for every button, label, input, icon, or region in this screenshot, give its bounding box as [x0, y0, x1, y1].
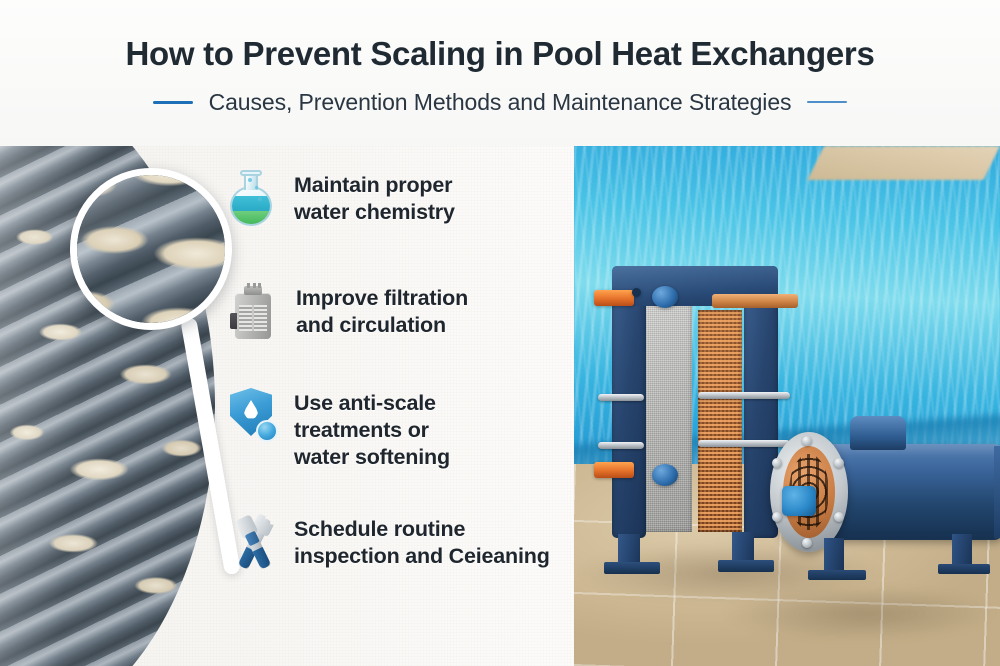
list-item[interactable]: Improve filtration and circulation	[230, 283, 468, 339]
nozzle-copper-top-right	[712, 294, 798, 308]
list-item-text: Schedule routine inspection and Ceieanin…	[294, 514, 550, 570]
tie-bolt-2	[698, 392, 790, 399]
flange-bolt-1	[802, 436, 812, 446]
flask-icon	[228, 170, 280, 226]
list-item-line: treatments or	[294, 417, 450, 444]
leg-right	[732, 532, 754, 562]
shell-foot-right	[938, 564, 990, 574]
list-item-line: inspection and Ceieaning	[294, 543, 550, 570]
list-item-line: water softening	[294, 444, 450, 471]
top-dome-port	[850, 416, 906, 450]
list-item-line: and circulation	[296, 312, 468, 339]
shell-leg-right	[952, 534, 972, 568]
subtitle-rule-left-icon	[153, 101, 193, 104]
list-item-text: Use anti-scale treatments or water softe…	[294, 388, 450, 471]
pool-equipment-photo	[574, 146, 1000, 666]
subtitle-rule-right-icon	[807, 101, 847, 103]
shell-leg-left	[824, 538, 844, 572]
magnifier-icon	[70, 168, 232, 330]
infographic-root: How to Prevent Scaling in Pool Heat Exch…	[0, 0, 1000, 666]
page-subtitle: Causes, Prevention Methods and Maintenan…	[209, 89, 792, 116]
shell-foot-left	[808, 570, 866, 580]
list-item[interactable]: Use anti-scale treatments or water softe…	[228, 388, 450, 471]
list-item-line: Use anti-scale	[294, 390, 450, 417]
list-item-text: Improve filtration and circulation	[296, 283, 468, 339]
tie-bolt-1	[598, 394, 644, 401]
shield-droplet-icon	[228, 388, 280, 446]
bolt-hole-top	[632, 288, 641, 297]
flange-bolt-3	[834, 512, 844, 522]
tie-bolt-3	[598, 442, 644, 449]
crossed-tools-icon	[228, 514, 280, 572]
list-item[interactable]: Maintain proper water chemistry	[228, 170, 455, 226]
plate-pack-copper	[698, 310, 742, 532]
leg-left	[618, 534, 640, 564]
list-item-text: Maintain proper water chemistry	[294, 170, 455, 226]
list-item-line: water chemistry	[294, 199, 455, 226]
magnifier-zoom-content	[70, 168, 232, 330]
subtitle-row: Causes, Prevention Methods and Maintenan…	[153, 89, 848, 116]
port-blue-bottom	[652, 464, 678, 486]
frame-left	[612, 266, 646, 538]
shell-and-tube-heat-exchanger	[752, 424, 1000, 614]
plate-pack-grey	[640, 304, 692, 532]
page-title: How to Prevent Scaling in Pool Heat Exch…	[125, 36, 874, 72]
far-deck-edge	[807, 146, 1000, 180]
nozzle-orange-bottom-left	[594, 462, 634, 478]
flange-bolt-5	[772, 512, 782, 522]
list-item-line: Improve filtration	[296, 285, 468, 312]
list-item-line: Schedule routine	[294, 516, 550, 543]
port-blue-top	[652, 286, 678, 308]
list-item[interactable]: Schedule routine inspection and Ceieanin…	[228, 514, 550, 572]
foot-left	[604, 562, 660, 574]
blue-drain-cap	[782, 486, 816, 516]
flange-bolt-2	[834, 458, 844, 468]
flange-bolt-4	[802, 538, 812, 548]
filter-housing-icon	[230, 283, 282, 339]
shell-end-cap	[994, 446, 1000, 538]
body-area: Maintain proper water chemistry	[0, 146, 1000, 666]
flange-bolt-6	[772, 458, 782, 468]
nozzle-orange-top-left	[594, 290, 634, 306]
list-item-line: Maintain proper	[294, 172, 455, 199]
header-banner: How to Prevent Scaling in Pool Heat Exch…	[0, 0, 1000, 146]
